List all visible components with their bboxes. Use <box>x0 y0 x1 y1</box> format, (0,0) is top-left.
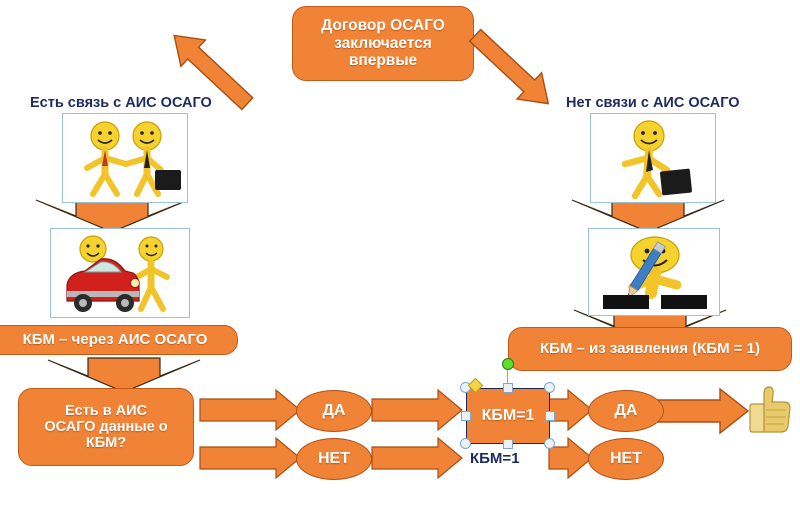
resize-handle-middle-right[interactable] <box>545 411 555 421</box>
arrow-yes-to-kbm <box>372 390 462 430</box>
outcome-no-left[interactable]: НЕТ <box>296 438 372 480</box>
outcome-no-left-label: НЕТ <box>318 450 350 468</box>
left-chevron-arrow-1 <box>36 198 205 232</box>
resize-handle-top-right[interactable] <box>544 382 555 393</box>
left-result-bar[interactable]: КБМ – через АИС ОСАГО <box>0 325 238 355</box>
red-car-smiley-picture <box>51 229 190 318</box>
left-picture-car <box>50 228 190 318</box>
slide-canvas: Договор ОСАГО заключается впервые <box>0 0 800 512</box>
resize-handle-bottom-left[interactable] <box>460 438 471 449</box>
selected-kbm-caption: КБМ=1 <box>470 450 520 467</box>
arrow-kbm-to-no-right <box>549 438 592 478</box>
top-box-line1: Договор ОСАГО <box>321 17 445 34</box>
resize-handle-middle-left[interactable] <box>461 411 471 421</box>
rotate-handle[interactable] <box>502 358 514 370</box>
outcome-yes-right[interactable]: ДА <box>588 390 664 432</box>
right-result-bar-label: КБМ – из заявления (КБМ = 1) <box>540 341 760 358</box>
resize-handle-bottom-right[interactable] <box>544 438 555 449</box>
right-branch-label: Нет связи с АИС ОСАГО <box>566 95 740 111</box>
selected-kbm-shape[interactable]: КБМ=1 <box>466 388 550 444</box>
selected-kbm-shape-label: КБМ=1 <box>482 407 535 425</box>
question-line3: КБМ? <box>86 435 126 451</box>
resize-handle-top-center[interactable] <box>503 383 513 393</box>
diagonal-arrow-down-right <box>463 22 561 117</box>
handshake-smileys-picture <box>63 114 188 203</box>
arrow-no-to-kbm <box>372 438 462 478</box>
question-box[interactable]: Есть в АИС ОСАГО данные о КБМ? <box>18 388 194 466</box>
question-line2: ОСАГО данные о <box>44 419 167 435</box>
left-branch-label: Есть связь с АИС ОСАГО <box>30 95 212 111</box>
smiley-writing-pencil-picture <box>589 229 720 316</box>
arrow-question-to-no <box>200 438 300 478</box>
right-picture-walker <box>590 113 716 203</box>
resize-handle-bottom-center[interactable] <box>503 439 513 449</box>
left-picture-handshake <box>62 113 188 203</box>
top-box-line3: впервые <box>349 52 417 69</box>
thumbs-up-icon <box>748 382 794 436</box>
right-picture-writing <box>588 228 720 316</box>
outcome-yes-left[interactable]: ДА <box>296 390 372 432</box>
arrow-question-to-yes <box>200 390 300 430</box>
arrow-kbm-to-yes-right <box>549 390 592 430</box>
block-arrow-to-thumbs-up <box>655 389 748 433</box>
question-line1: Есть в АИС <box>65 403 147 419</box>
outcome-no-right[interactable]: НЕТ <box>588 438 664 480</box>
right-result-bar[interactable]: КБМ – из заявления (КБМ = 1) <box>508 327 792 371</box>
outcome-no-right-label: НЕТ <box>610 450 642 468</box>
outcome-yes-right-label: ДА <box>615 402 638 420</box>
left-result-bar-label: КБМ – через АИС ОСАГО <box>23 332 208 349</box>
outcome-yes-left-label: ДА <box>323 402 346 420</box>
walking-smiley-briefcase-picture <box>591 114 716 203</box>
top-process-box[interactable]: Договор ОСАГО заключается впервые <box>292 6 474 81</box>
left-chevron-arrow-2 <box>48 358 200 392</box>
right-chevron-arrow-1 <box>572 198 724 232</box>
top-box-line2: заключается <box>334 35 432 52</box>
